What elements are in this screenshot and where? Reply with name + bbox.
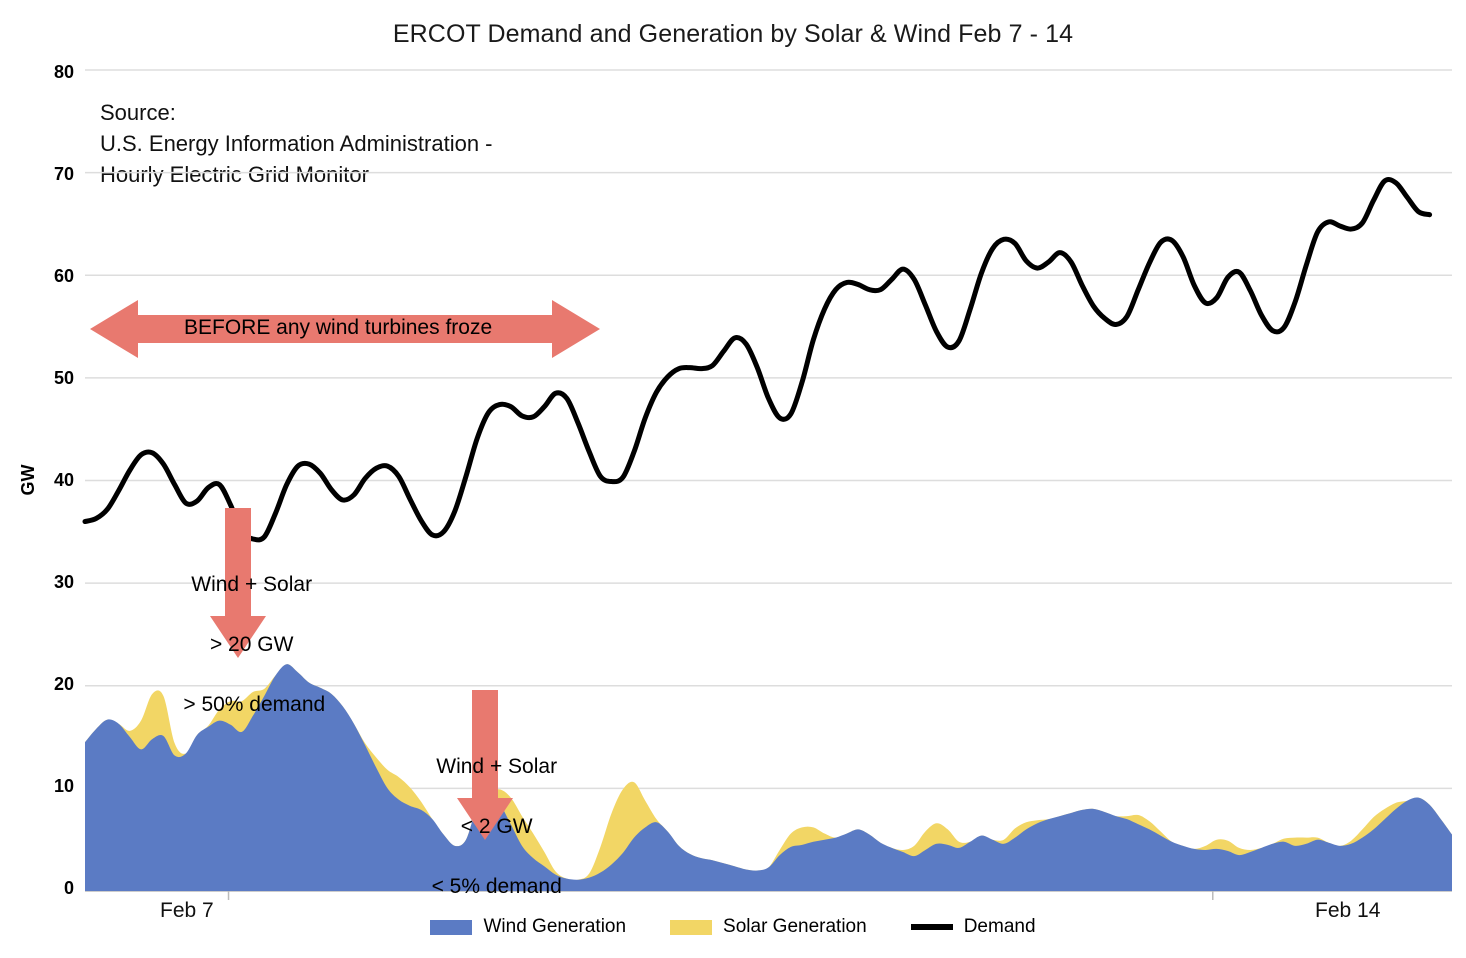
peak-annot-line1: Wind + Solar <box>191 573 312 596</box>
legend-item-demand: Demand <box>911 916 1036 938</box>
low-annot-line2: < 2 GW <box>461 815 533 838</box>
legend-label-demand: Demand <box>964 916 1036 938</box>
wind-swatch-icon <box>430 920 472 935</box>
demand-line-icon <box>911 924 953 930</box>
low-annot-line3: < 5% demand <box>432 875 562 898</box>
legend-item-wind: Wind Generation <box>430 916 626 938</box>
peak-annot-line2: > 20 GW <box>210 633 293 656</box>
solar-swatch-icon <box>670 920 712 935</box>
peak-annot-line3: > 50% demand <box>183 693 325 716</box>
chart-legend: Wind Generation Solar Generation Demand <box>0 916 1466 938</box>
low-annot-line1: Wind + Solar <box>436 755 557 778</box>
x-axis-ticks <box>229 891 1213 900</box>
legend-label-solar: Solar Generation <box>723 916 867 938</box>
low-generation-annotation: Wind + Solar < 2 GW < 5% demand <box>404 722 566 932</box>
before-freeze-label: BEFORE any wind turbines froze <box>184 316 492 340</box>
chart-root: ERCOT Demand and Generation by Solar & W… <box>0 0 1466 958</box>
legend-item-solar: Solar Generation <box>670 916 867 938</box>
peak-generation-annotation: Wind + Solar > 20 GW > 50% demand <box>160 540 320 750</box>
legend-label-wind: Wind Generation <box>483 916 626 938</box>
plot-area <box>0 0 1466 958</box>
